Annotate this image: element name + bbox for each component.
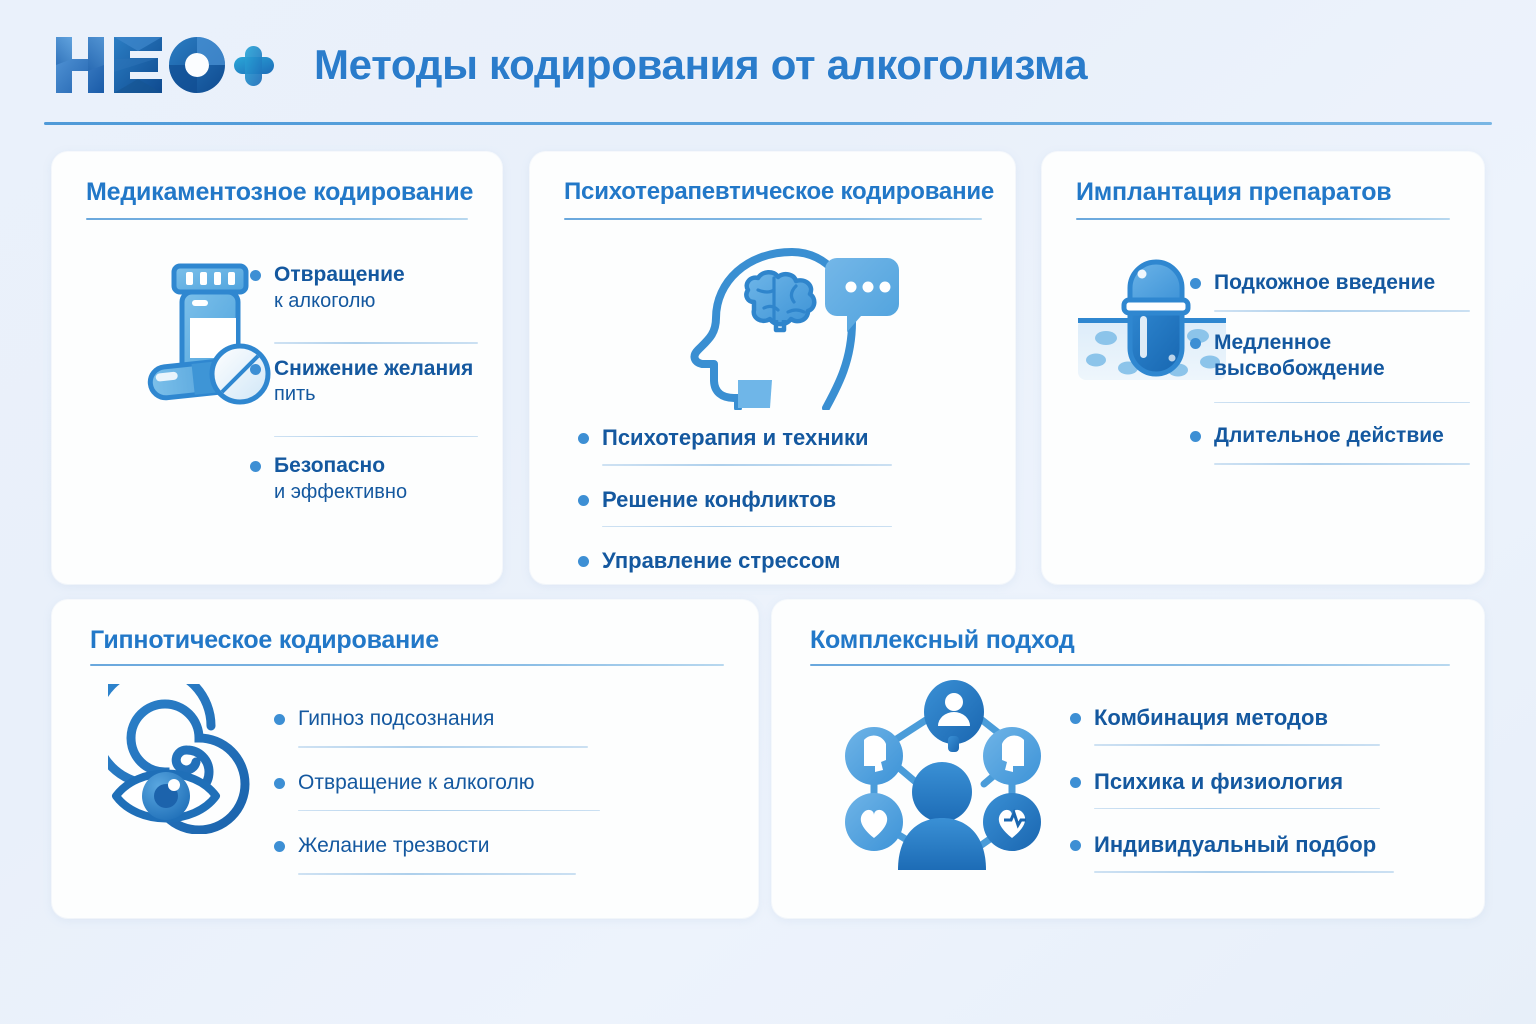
bullet-dot-icon <box>274 778 285 789</box>
card-gipnoticheskoe: Гипнотическое кодирование Г <box>52 600 758 918</box>
card-medikamentoznoe: Медикаментозное кодирование <box>52 152 502 584</box>
list-divider <box>298 746 588 748</box>
list-item: Снижение желания пить <box>250 356 478 436</box>
bullet-dot-icon <box>1190 338 1201 349</box>
bullet-list-gipnoticheskoe: Гипноз подсознания Отвращение к алкоголю… <box>274 706 614 875</box>
list-item-line1: Индивидуальный подбор <box>1094 831 1430 859</box>
list-divider <box>274 342 478 344</box>
bullet-list-medikamentoznoe: Отвращение к алкоголю Снижение желания п… <box>250 262 478 533</box>
card-title-implantaciya: Имплантация препаратов <box>1076 178 1391 207</box>
list-item-line1: Отвращение к алкоголю <box>298 770 614 797</box>
list-divider <box>298 810 600 812</box>
list-item-line1: Подкожное введение <box>1214 270 1470 297</box>
list-item: Длительное действие <box>1190 423 1470 455</box>
card-title-gipnoticheskoe: Гипнотическое кодирование <box>90 626 439 655</box>
bullet-dot-icon <box>250 270 261 281</box>
list-divider <box>298 873 576 875</box>
bullet-dot-icon <box>1190 278 1201 289</box>
list-divider <box>1094 808 1380 810</box>
list-item: Решение конфликтов <box>578 486 938 520</box>
list-item: Управление стрессом <box>578 547 938 581</box>
bullet-dot-icon <box>578 433 589 444</box>
head-brain-chat-icon <box>652 240 902 410</box>
card-title-underline <box>90 664 724 666</box>
list-item: Медленное высвобождение <box>1190 330 1470 392</box>
bullet-list-kompleksnyj: Комбинация методов Психика и физиология … <box>1070 704 1430 873</box>
people-network-icon <box>834 674 1044 874</box>
list-divider <box>1214 402 1470 404</box>
bullet-dot-icon <box>1190 431 1201 442</box>
bullet-dot-icon <box>1070 713 1081 724</box>
bullet-dot-icon <box>578 556 589 567</box>
list-item-line1: Комбинация методов <box>1094 704 1430 732</box>
list-item-line1: Отвращение <box>274 262 478 289</box>
list-item: Подкожное введение <box>1190 270 1470 302</box>
list-item-line1: Психотерапия и техники <box>602 424 938 452</box>
list-item-line1: Решение конфликтов <box>602 486 938 514</box>
page-header: Методы кодирования от алкоголизма <box>0 0 1536 130</box>
list-item: Психика и физиология <box>1070 768 1430 800</box>
list-item-line2: пить <box>274 382 478 408</box>
list-item: Комбинация методов <box>1070 704 1430 736</box>
card-title-psihoterapevticheskoe: Психотерапевтическое кодирование <box>564 178 994 206</box>
list-item-line1: Безопасно <box>274 453 478 480</box>
header-divider <box>44 122 1492 125</box>
bullet-dot-icon <box>578 495 589 506</box>
list-item: Желание трезвости <box>274 833 614 865</box>
bullet-dot-icon <box>1070 777 1081 788</box>
list-divider <box>1094 744 1380 746</box>
list-item: Индивидуальный подбор <box>1070 831 1430 863</box>
list-divider <box>1094 871 1394 873</box>
list-item-line2: к алкоголю <box>274 289 478 315</box>
card-psihoterapevticheskoe: Психотерапевтическое кодирование <box>530 152 1015 584</box>
bullet-dot-icon <box>274 714 285 725</box>
bullet-dot-icon <box>1070 840 1081 851</box>
page-title: Методы кодирования от алкоголизма <box>314 41 1087 89</box>
bullet-dot-icon <box>274 841 285 852</box>
bullet-dot-icon <box>250 364 261 375</box>
card-kompleksnyj: Комплексный подход <box>772 600 1484 918</box>
list-item-line1: Психика и физиология <box>1094 768 1430 796</box>
list-item: Психотерапия и техники <box>578 424 938 458</box>
list-item: Гипноз подсознания <box>274 706 614 738</box>
card-implantaciya: Имплантация препаратов <box>1042 152 1484 584</box>
card-title-underline <box>810 664 1450 666</box>
card-title-medikamentoznoe: Медикаментозное кодирование <box>86 178 473 207</box>
list-item-line1: Медленное <box>1214 330 1470 357</box>
list-item: Отвращение к алкоголю <box>274 770 614 802</box>
card-title-underline <box>1076 218 1450 220</box>
list-item-line2: высвобождение <box>1214 356 1470 383</box>
hypnosis-spiral-eye-icon <box>108 684 268 834</box>
bullet-list-psihoterapevticheskoe: Психотерапия и техники Решение конфликто… <box>578 424 938 581</box>
card-title-underline <box>564 218 982 220</box>
list-divider <box>1214 463 1470 465</box>
list-item-line1: Гипноз подсознания <box>298 706 614 733</box>
list-item: Отвращение к алкоголю <box>250 262 478 342</box>
list-item-line1: Управление стрессом <box>602 547 938 575</box>
list-divider <box>274 436 478 438</box>
list-divider <box>602 526 892 528</box>
list-item-line2: и эффективно <box>274 480 478 506</box>
list-item-line1: Длительное действие <box>1214 423 1470 450</box>
list-item: Безопасно и эффективно <box>250 453 478 533</box>
card-title-underline <box>86 218 468 220</box>
list-item-line1: Желание трезвости <box>298 833 614 860</box>
bullet-dot-icon <box>250 461 261 472</box>
card-title-kompleksnyj: Комплексный подход <box>810 626 1075 655</box>
list-divider <box>602 464 892 466</box>
neo-plus-logo <box>52 31 276 99</box>
bullet-list-implantaciya: Подкожное введение Медленное высвобожден… <box>1190 270 1470 465</box>
list-item-line1: Снижение желания <box>274 356 478 383</box>
list-divider <box>1214 310 1470 312</box>
